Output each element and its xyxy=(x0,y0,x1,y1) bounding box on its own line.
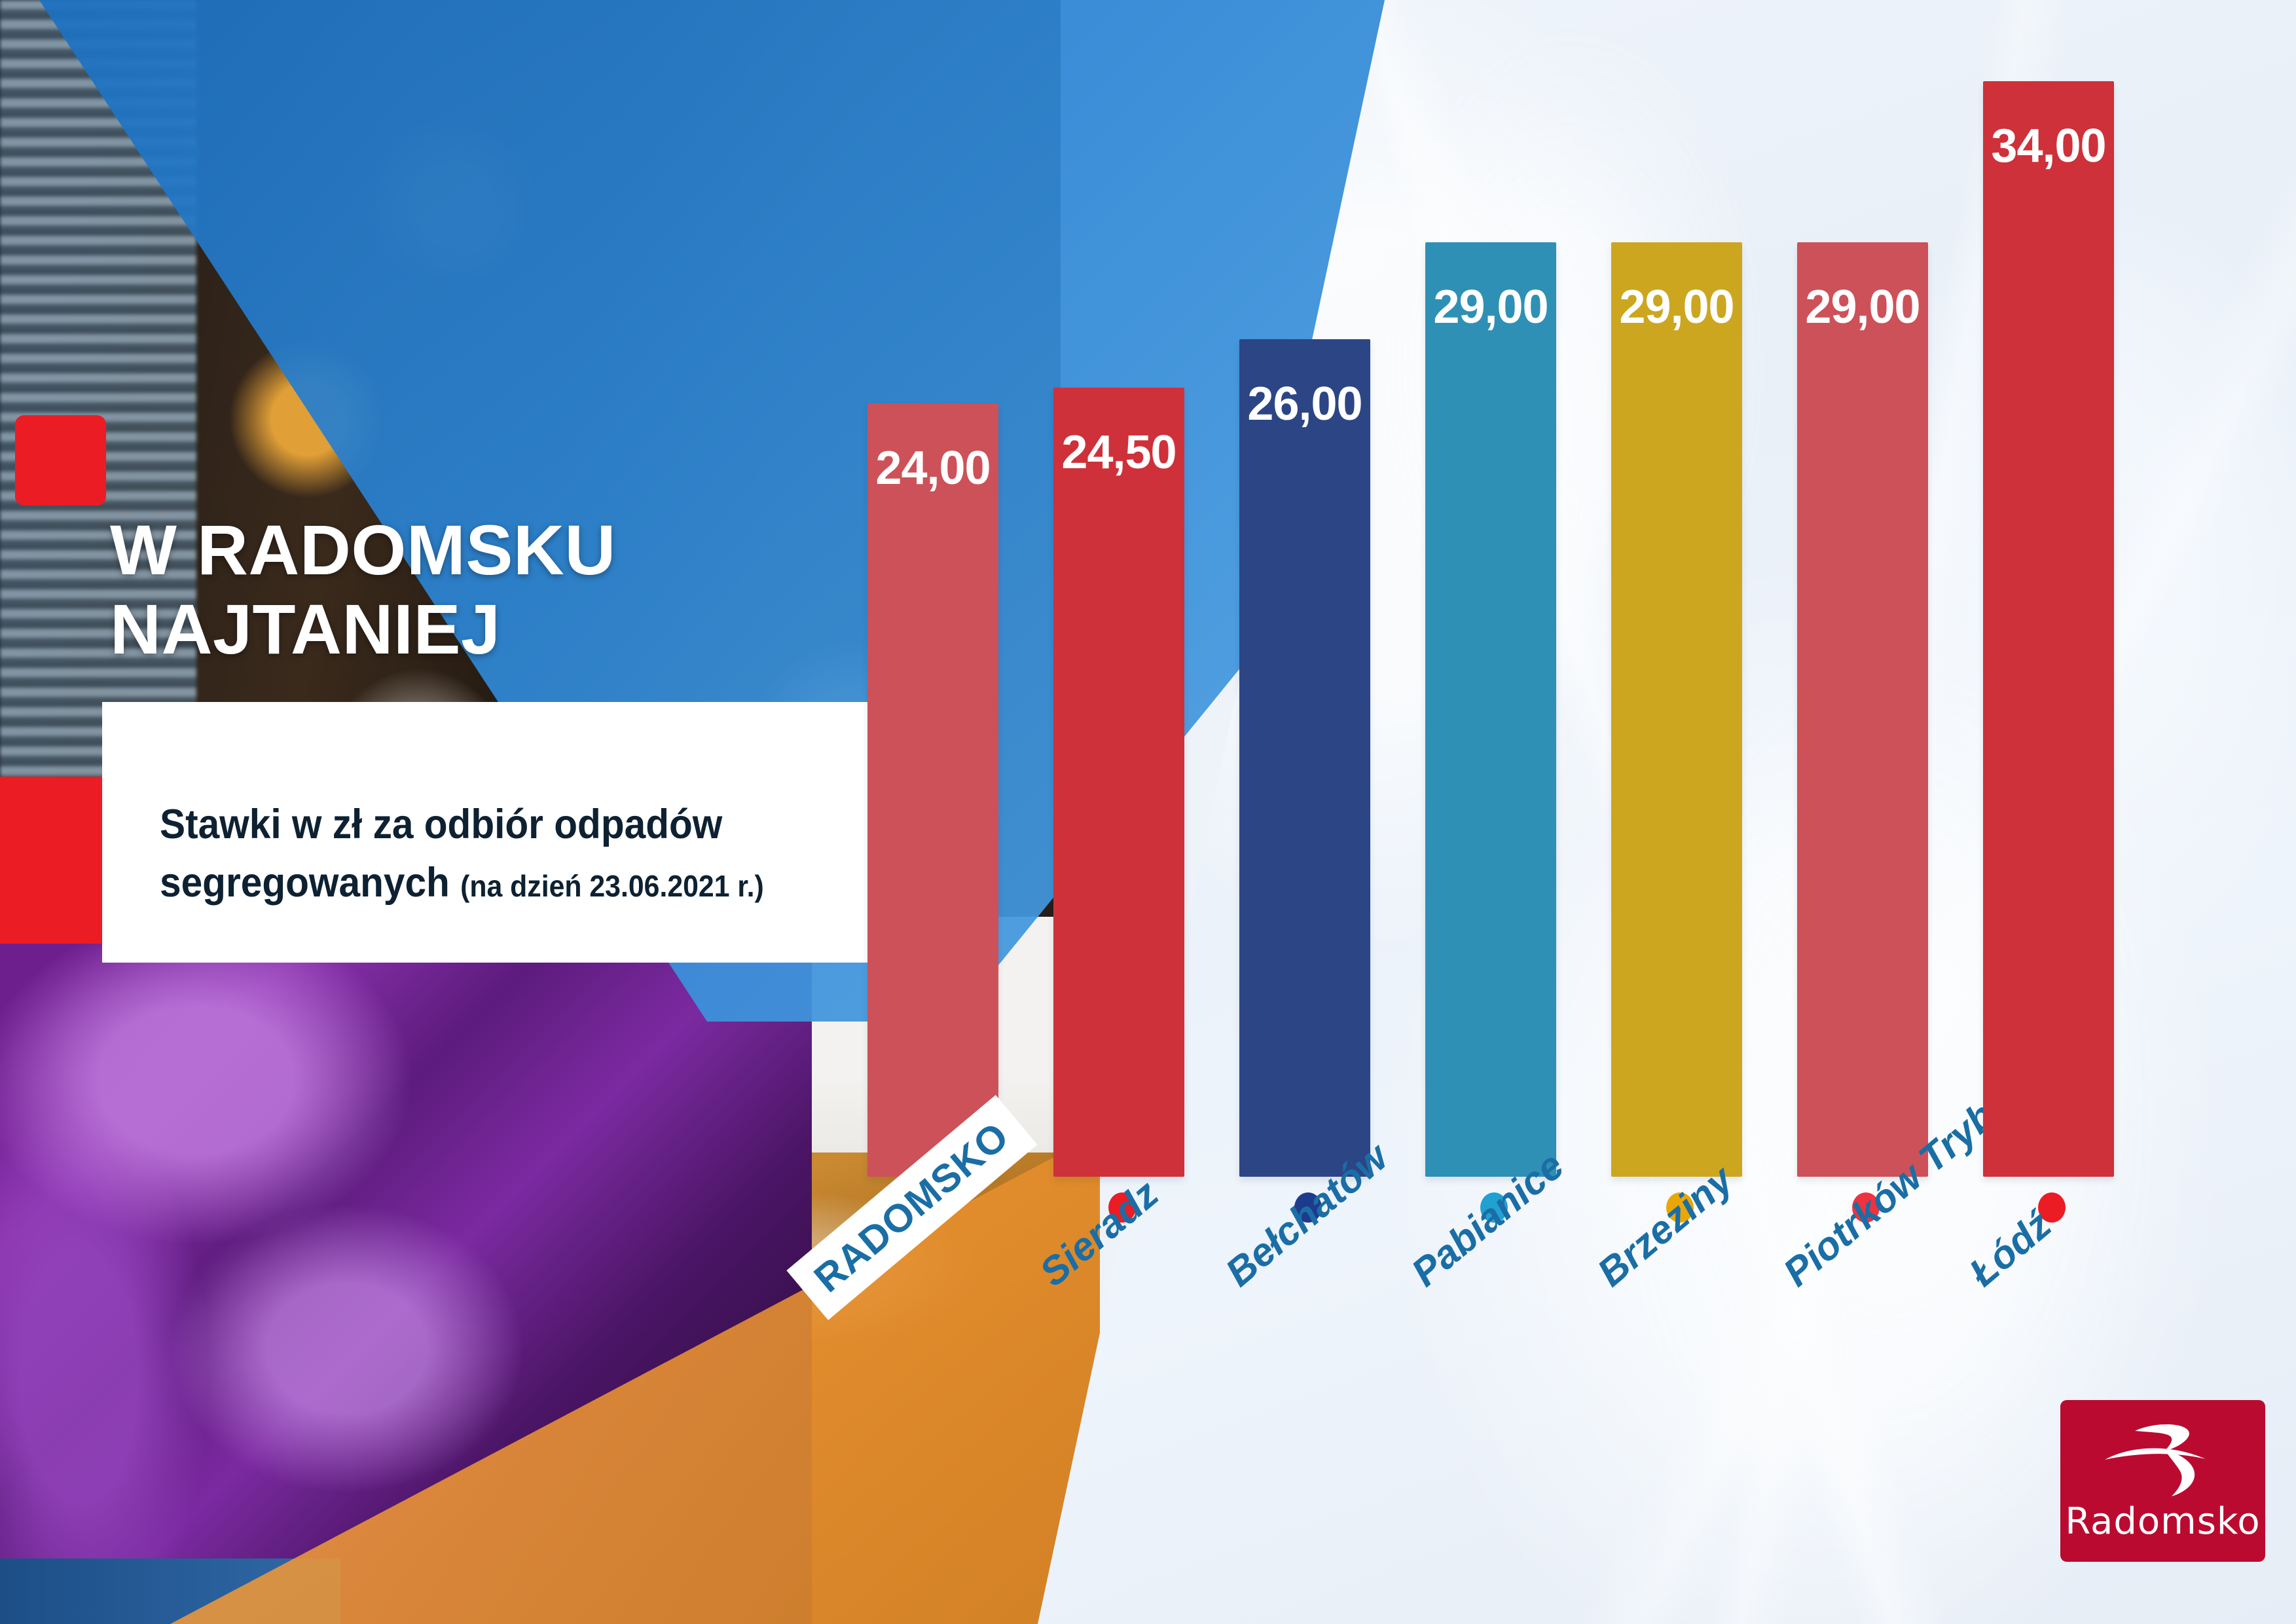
page-title: W RADOMSKU NAJTANIEJ xyxy=(110,511,928,669)
radomsko-logo[interactable]: Radomsko xyxy=(2060,1400,2265,1562)
logo-wordmark: Radomsko xyxy=(2065,1500,2260,1543)
subtitle-text: Stawki w zł za odbiór odpadów segregowan… xyxy=(160,796,817,913)
subtitle-note: (na dzień 23.06.2021 r.) xyxy=(460,869,764,903)
red-square-accent-top xyxy=(15,415,106,506)
infographic-poster: W RADOMSKU NAJTANIEJ Stawki w zł za odbi… xyxy=(0,0,2296,1624)
radomsko-swoosh-icon xyxy=(2101,1419,2225,1499)
